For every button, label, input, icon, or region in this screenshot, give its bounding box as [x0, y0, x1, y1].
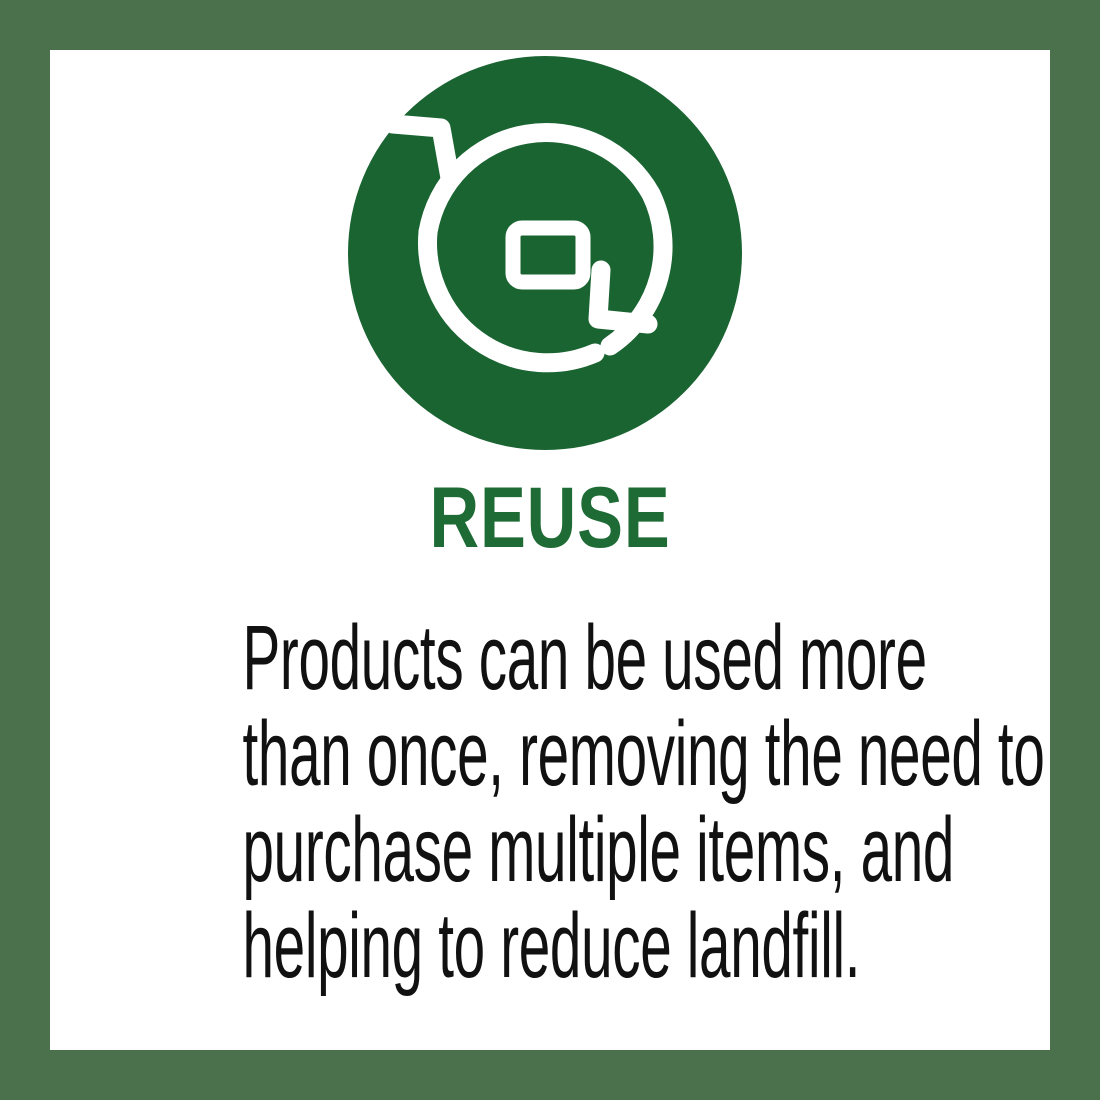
body-copy-line: helping to reduce landfill.	[243, 898, 858, 994]
body-copy: Products can be used more than once, rem…	[243, 610, 858, 994]
page-title: REUSE	[150, 475, 950, 561]
reuse-info-card: REUSE Products can be used more than onc…	[0, 0, 1100, 1100]
icon-badge-circle	[348, 56, 742, 450]
body-copy-line: Products can be used more	[243, 610, 858, 706]
reuse-cycle-icon	[348, 56, 742, 450]
body-copy-line: than once, removing the need to	[243, 706, 858, 802]
card-inner-panel: REUSE Products can be used more than onc…	[50, 50, 1050, 1050]
body-copy-line: purchase multiple items, and	[243, 802, 858, 898]
